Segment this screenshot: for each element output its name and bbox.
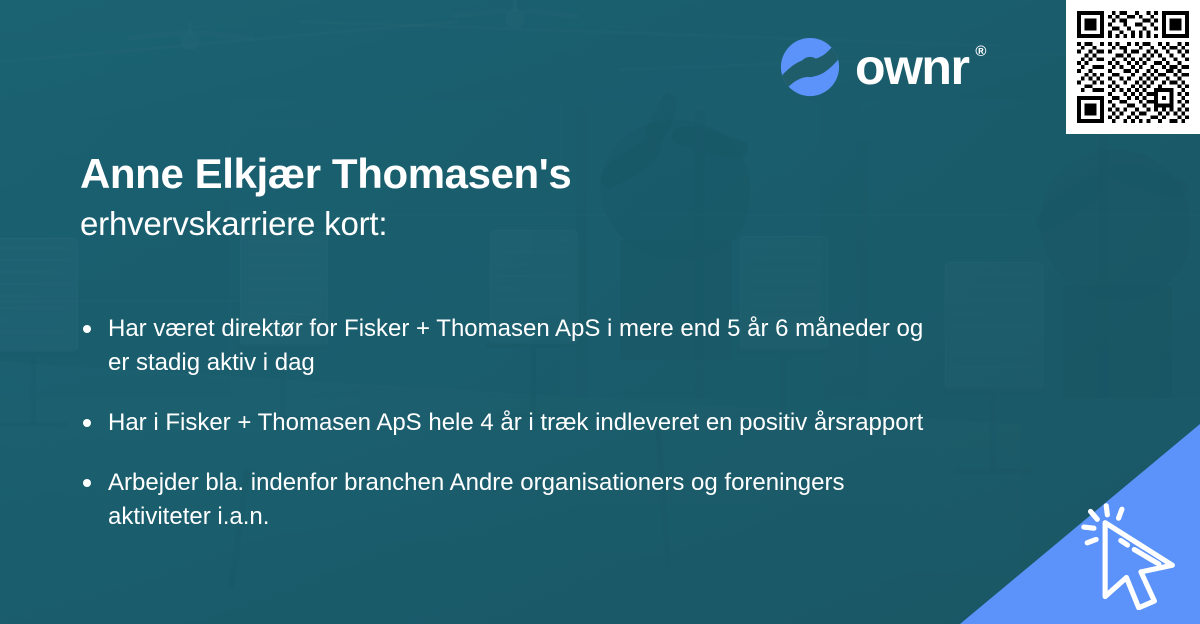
page-subtitle: erhvervskarriere kort: [80,204,920,244]
brand-name-text: ownr [855,39,968,95]
bullet-dot-icon [83,479,91,487]
list-item-text: Arbejder bla. indenfor branchen Andre or… [108,469,844,530]
list-item: Har været direktør for Fisker + Thomasen… [80,312,940,380]
brand-wordmark: ownr® [855,42,986,92]
list-item-text: Har været direktør for Fisker + Thomasen… [108,315,923,376]
career-card: ownr® [0,0,1200,624]
ownr-circular-swirl-logo-icon [779,36,841,98]
qr-code[interactable] [1066,0,1200,134]
career-highlights-list: Har været direktør for Fisker + Thomasen… [80,312,940,534]
list-item: Arbejder bla. indenfor branchen Andre or… [80,466,940,534]
list-item-text: Har i Fisker + Thomasen ApS hele 4 år i … [108,409,923,436]
page-title: Anne Elkjær Thomasen's [80,150,920,198]
bullet-dot-icon [83,325,91,333]
headline-block: Anne Elkjær Thomasen's erhvervskarriere … [80,150,920,244]
brand-logo[interactable]: ownr® [779,36,986,98]
click-cursor-icon [1076,498,1188,610]
registered-trademark-symbol: ® [975,44,986,59]
qr-code-image [1077,11,1189,123]
bullet-dot-icon [83,419,91,427]
list-item: Har i Fisker + Thomasen ApS hele 4 år i … [80,406,940,440]
